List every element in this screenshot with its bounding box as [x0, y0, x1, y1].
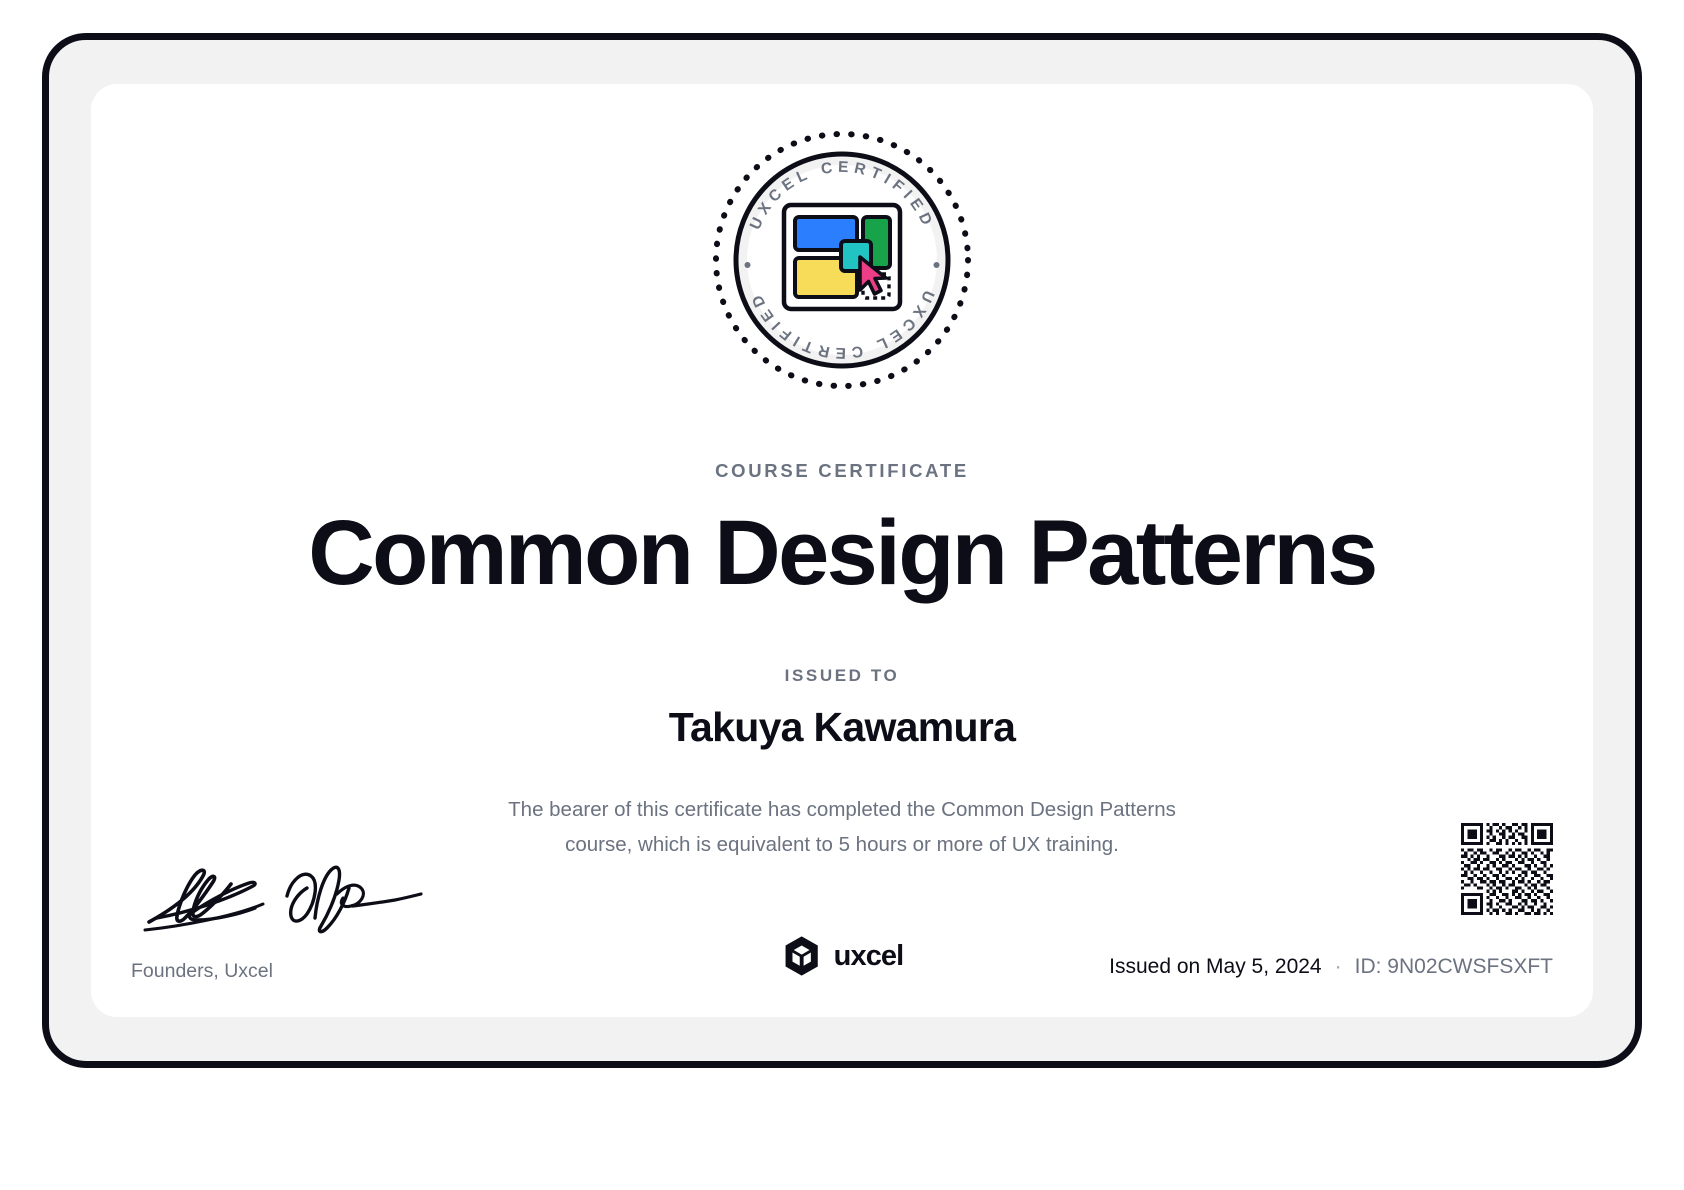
certificate-card: UXCEL CERTIFIED UXCEL CERTIFIED [91, 84, 1593, 1017]
certificate-footer: Founders, Uxcel uxcel [91, 767, 1593, 1017]
meta-separator: · [1335, 955, 1342, 979]
signature-caption: Founders, Uxcel [131, 960, 461, 983]
page-title: Common Design Patterns [91, 504, 1593, 603]
certificate-qr-code[interactable] [1461, 823, 1553, 915]
certificate-id: ID: 9N02CWSFSXFT [1355, 955, 1553, 979]
certificate-kicker: COURSE CERTIFICATE [91, 460, 1593, 482]
signature-block: Founders, Uxcel [131, 860, 461, 983]
founders-signature-icon [131, 860, 431, 940]
certificate-meta: Issued on May 5, 2024 · ID: 9N02CWSFSXFT [1109, 955, 1553, 979]
certification-seal: UXCEL CERTIFIED UXCEL CERTIFIED [708, 126, 976, 394]
uxcel-wordmark: uxcel [834, 940, 904, 973]
issued-to-label: ISSUED TO [91, 666, 1593, 686]
recipient-name: Takuya Kawamura [91, 704, 1593, 751]
uxcel-brand-logo: uxcel [781, 935, 904, 977]
uxcel-hexagon-cube-icon [781, 935, 823, 977]
issued-date: Issued on May 5, 2024 [1109, 955, 1321, 979]
certificate-frame: UXCEL CERTIFIED UXCEL CERTIFIED [42, 33, 1642, 1068]
